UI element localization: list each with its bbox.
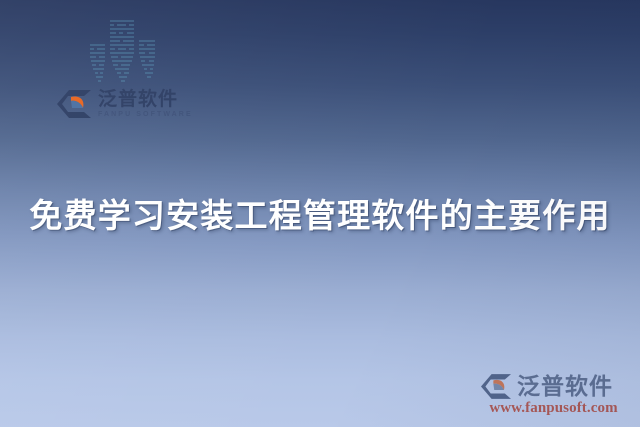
brand-logo-lockup: 泛普软件 FANPU SOFTWARE [57,90,193,118]
watermark-lockup: 泛普软件 [481,374,626,399]
site-watermark: 泛普软件 www.fanpusoft.com [481,374,626,417]
pixel-skyline-icon [88,14,160,90]
banner-headline: 免费学习安装工程管理软件的主要作用 [0,193,640,239]
watermark-url: www.fanpusoft.com [481,400,626,417]
brand-name-en: FANPU SOFTWARE [98,111,193,118]
fanpu-emblem-icon [57,90,91,118]
promo-banner: 泛普软件 FANPU SOFTWARE 免费学习安装工程管理软件的主要作用 泛普… [0,0,640,427]
brand-name-cn: 泛普软件 [98,90,193,109]
watermark-emblem-icon [481,374,511,399]
watermark-brand-name: 泛普软件 [517,375,613,398]
